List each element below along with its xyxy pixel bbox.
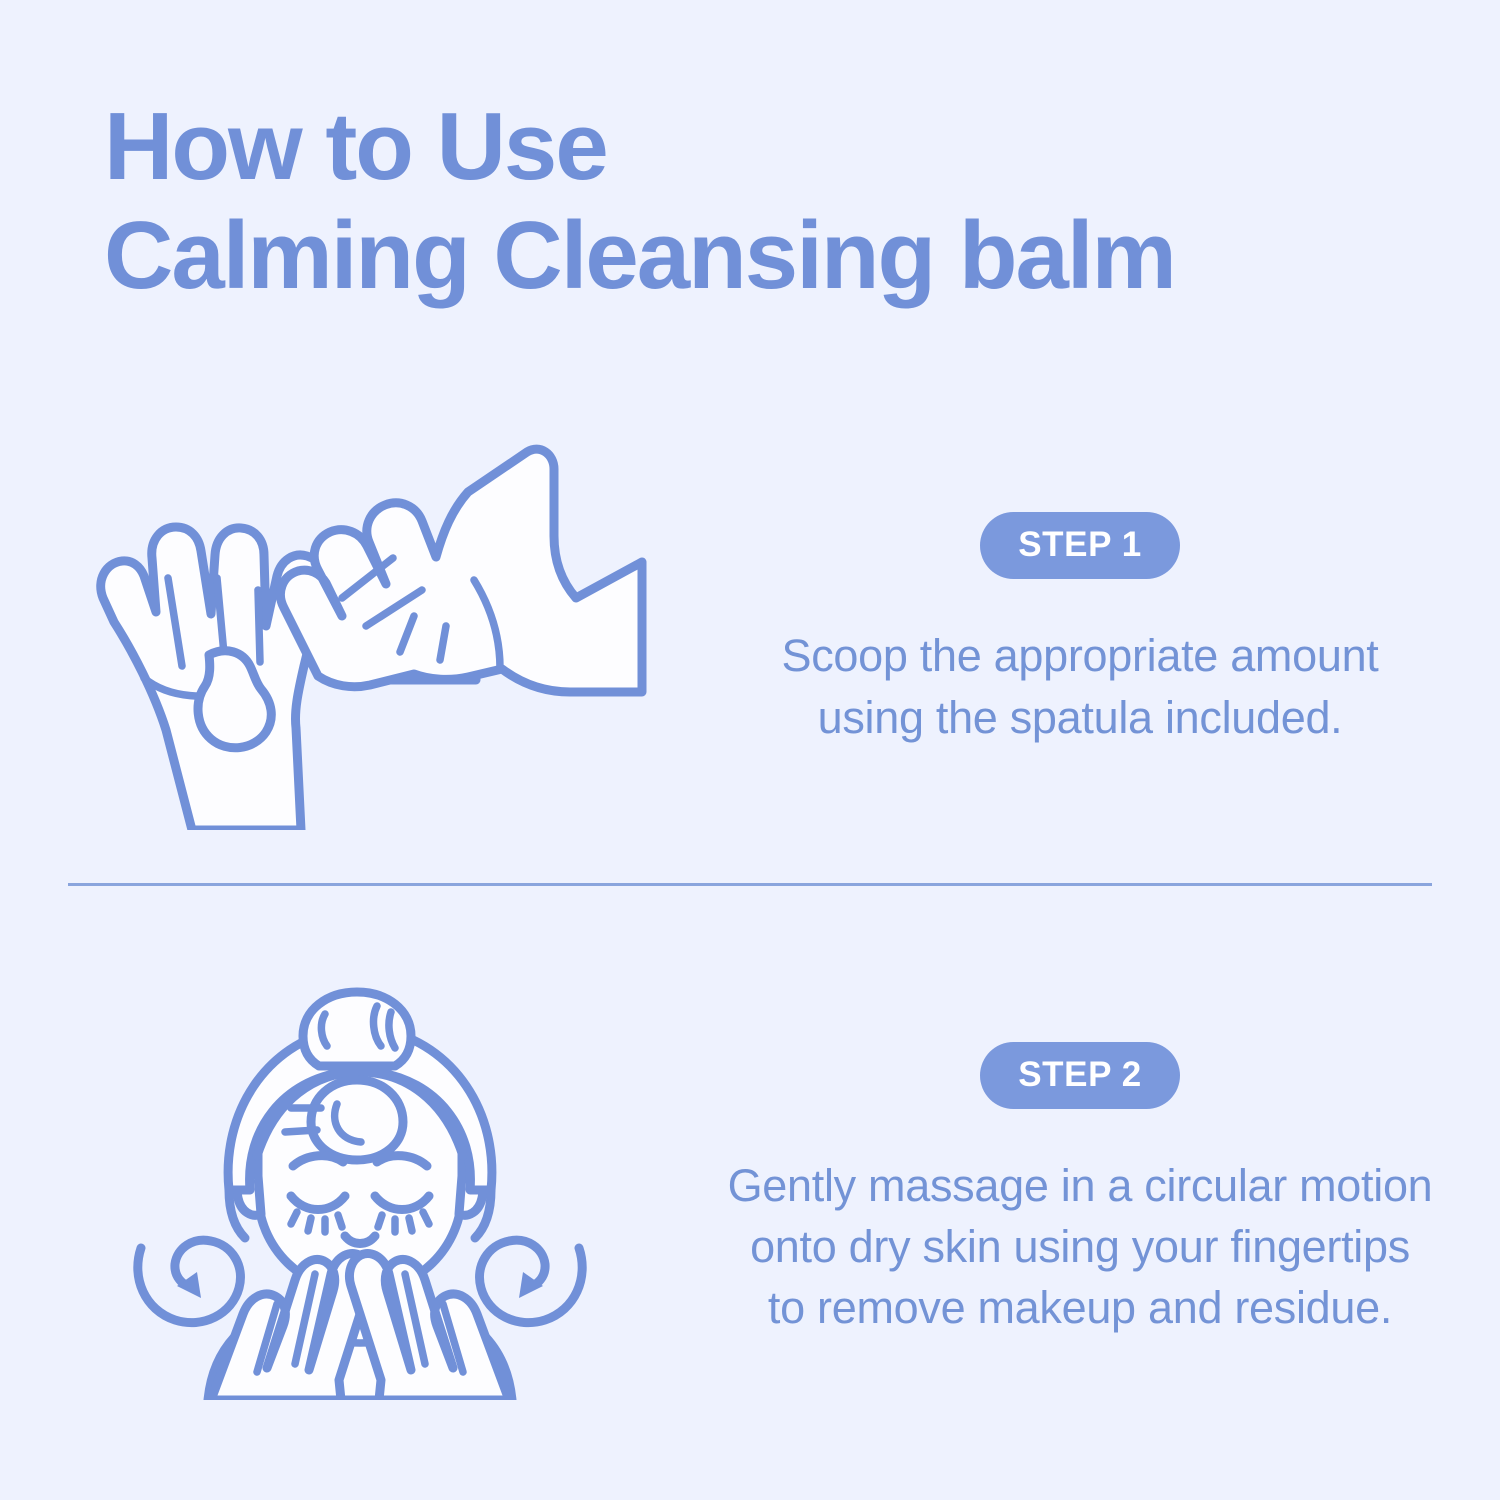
step-2-description-line-3: to remove makeup and residue. — [728, 1277, 1433, 1338]
step-1-illustration — [0, 430, 720, 830]
title-line-1: How to Use — [104, 92, 1304, 201]
step-1-badge: STEP 1 — [980, 512, 1180, 579]
step-1-text-column: STEP 1 Scoop the appropriate amount usin… — [720, 512, 1500, 747]
hands-scooping-balm-icon — [70, 430, 650, 830]
title-line-2: Calming Cleansing balm — [104, 201, 1304, 310]
circular-motion-arrow-right-icon — [480, 1240, 583, 1322]
step-row-2: STEP 2 Gently massage in a circular moti… — [0, 975, 1500, 1405]
circular-motion-arrow-left-icon — [138, 1240, 241, 1322]
step-2-text-column: STEP 2 Gently massage in a circular moti… — [720, 1042, 1500, 1339]
page-root: How to Use Calming Cleansing balm — [0, 0, 1500, 1500]
step-2-description-line-1: Gently massage in a circular motion — [728, 1155, 1433, 1216]
step-1-description-line-2: using the spatula included. — [781, 687, 1378, 748]
step-2-badge: STEP 2 — [980, 1042, 1180, 1109]
step-2-illustration — [0, 980, 720, 1400]
step-1-description-line-1: Scoop the appropriate amount — [781, 625, 1378, 686]
page-title: How to Use Calming Cleansing balm — [104, 92, 1304, 311]
step-2-description-line-2: onto dry skin using your fingertips — [728, 1216, 1433, 1277]
woman-massaging-face-icon — [125, 980, 595, 1400]
step-row-1: STEP 1 Scoop the appropriate amount usin… — [0, 430, 1500, 830]
step-1-description: Scoop the appropriate amount using the s… — [781, 625, 1378, 747]
step-2-description: Gently massage in a circular motion onto… — [728, 1155, 1433, 1339]
section-divider — [68, 883, 1432, 886]
